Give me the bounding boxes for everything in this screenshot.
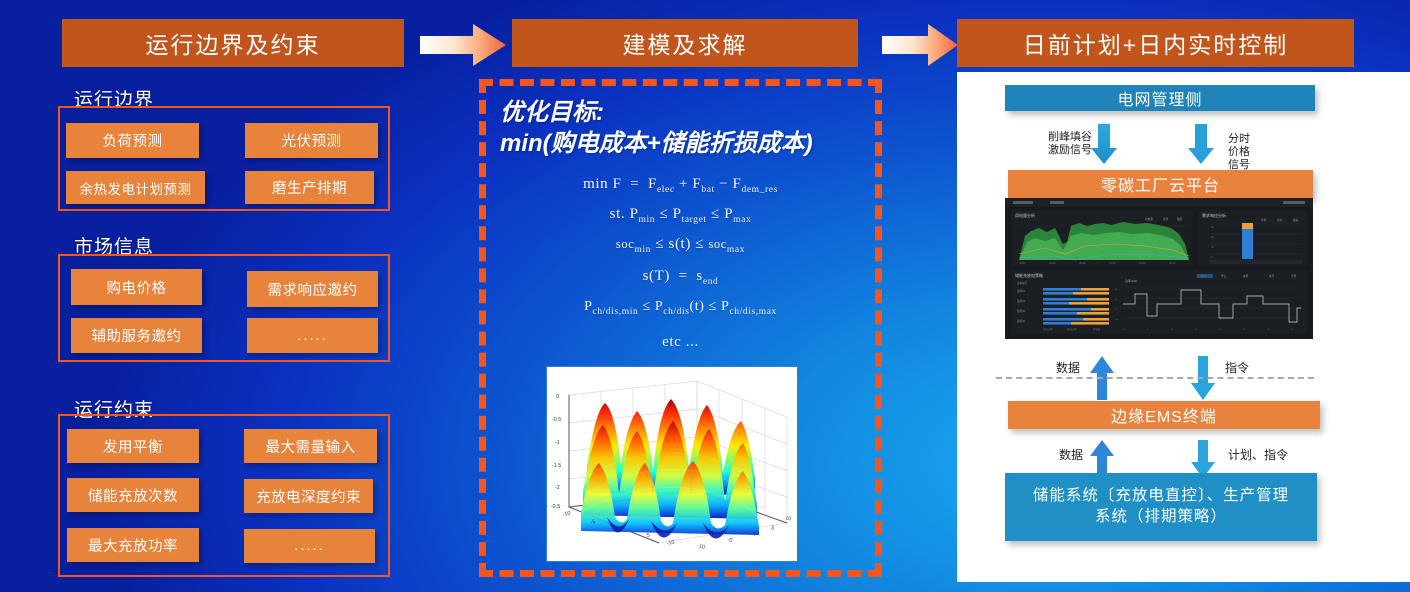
plan-command-label-lower: 计划、指令: [1228, 448, 1288, 462]
slide-canvas: 运行边界及约束 运行边界 负荷预测 光伏预测 余热发电计划预测 磨生产排期 市场…: [0, 0, 1410, 592]
svg-text:-2.5: -2.5: [551, 504, 560, 510]
svg-text:储能#3: 储能#3: [1017, 309, 1026, 313]
svg-text:设备编号: 设备编号: [1017, 281, 1028, 285]
svg-text:需求响应分析: 需求响应分析: [1202, 212, 1226, 218]
optimization-goal-text: 优化目标: min(购电成本+储能折损成本): [500, 98, 870, 159]
down-arrow-right: [1187, 122, 1215, 171]
down-arrow-left: [1090, 122, 1118, 171]
dashboard-screenshot[interactable]: 用电量分析 00:0004:0008:00 12:0016:0020:00 用电…: [1005, 198, 1313, 339]
chip-max-charge-discharge-power[interactable]: 最大充放功率: [67, 528, 199, 562]
svg-text:-0.5: -0.5: [552, 417, 561, 423]
chip-max-demand-input[interactable]: 最大需量输入: [244, 429, 377, 463]
svg-text:-2: -2: [555, 485, 560, 491]
left-header-label: 运行边界及约束: [146, 26, 321, 60]
surface-plot-card: 0 -0.5 -1 -1.5 -2 -2.5 -10 -5 0 5 -10 -1…: [546, 366, 798, 562]
equation-charge-discharge-bounds: Pch/dis,min ≤ Pch/dis(t) ≤ Pch/dis,max: [479, 299, 882, 317]
middle-panel-header: 建模及求解: [512, 19, 858, 67]
svg-text:-1.5: -1.5: [552, 463, 561, 469]
storage-production-system-bar[interactable]: 储能系统〔充放电直控〕、生产管理 系统（排期策略）: [1005, 473, 1317, 541]
equation-objective: min F = Felec + Fbat − Fdem_res: [479, 176, 882, 195]
svg-text:本周: 本周: [1243, 274, 1249, 278]
equation-soc-end: s(T) = send: [479, 268, 882, 287]
svg-text:储能充放电策略: 储能充放电策略: [1015, 272, 1043, 278]
flow-arrow-2: [880, 21, 960, 69]
chip-storage-cycle-count[interactable]: 储能充放次数: [67, 478, 199, 512]
chip-power-purchase-price[interactable]: 购电价格: [71, 269, 202, 305]
bottom-bar-line-2: 系统（排期策略）: [1095, 507, 1227, 528]
svg-text:全部: 全部: [1291, 274, 1297, 278]
tou-price-signal-label: 分时价格信号: [1228, 133, 1276, 172]
edge-ems-terminal-bar[interactable]: 边缘EMS终端: [1008, 401, 1320, 429]
bottom-bar-line-1: 储能系统〔充放电直控〕、生产管理: [1033, 486, 1289, 507]
equation-etc: etc ...: [479, 334, 882, 351]
svg-text:昨日: 昨日: [1221, 274, 1227, 278]
chip-constraints-more[interactable]: .....: [244, 529, 375, 563]
data-label-lower: 数据: [1059, 448, 1083, 462]
svg-text:储能#4: 储能#4: [1017, 319, 1026, 323]
svg-text:20:00: 20:00: [1169, 261, 1176, 265]
svg-text:储能#2: 储能#2: [1017, 299, 1026, 303]
flow-arrow-1: [418, 21, 508, 69]
svg-text:实际: 实际: [1277, 218, 1283, 222]
left-panel-header: 运行边界及约束: [62, 19, 404, 67]
svg-text:计划: 计划: [1261, 218, 1267, 222]
chip-mill-production-schedule[interactable]: 磨生产排期: [245, 171, 374, 204]
up-arrow-upper: [1089, 354, 1115, 407]
svg-text:12:00: 12:00: [1109, 261, 1116, 265]
svg-text:储能#1: 储能#1: [1017, 289, 1026, 293]
svg-text:-1: -1: [555, 440, 560, 446]
svg-text:08:00: 08:00: [1079, 261, 1086, 265]
equation-power-bounds: st. Pmin ≤ Ptarget ≤ Pmax: [479, 206, 882, 225]
down-arrow-command: [1190, 354, 1216, 407]
svg-text:0: 0: [556, 394, 559, 400]
command-label-upper: 指令: [1225, 361, 1249, 375]
svg-text:偏差: 偏差: [1293, 218, 1299, 222]
goal-line-2: min(购电成本+储能折损成本): [500, 129, 870, 160]
chip-generation-load-balance[interactable]: 发用平衡: [67, 429, 199, 463]
equation-soc-bounds: socmin ≤ s(t) ≤ socmax: [479, 236, 882, 255]
peak-shaving-signal-label: 削峰填谷激励信号: [1030, 131, 1092, 157]
chip-depth-of-discharge-constraint[interactable]: 充放电深度约束: [244, 479, 373, 513]
dashboard-graphic: 用电量分析 00:0004:0008:00 12:0016:0020:00 用电…: [1005, 198, 1313, 339]
grid-management-bar[interactable]: 电网管理侧: [1005, 85, 1315, 111]
zero-carbon-cloud-platform-bar[interactable]: 零碳工厂云平台: [1008, 170, 1313, 198]
chip-pv-forecast[interactable]: 光伏预测: [245, 123, 378, 158]
svg-text:00:00: 00:00: [1019, 261, 1026, 265]
chip-demand-response-invite[interactable]: 需求响应邀约: [247, 271, 378, 307]
svg-text:光伏: 光伏: [1163, 217, 1169, 221]
svg-text:04:00: 04:00: [1049, 261, 1056, 265]
chip-market-more[interactable]: .....: [247, 318, 378, 353]
right-panel-header: 日前计划+日内实时控制: [957, 19, 1354, 67]
boundary-dashed-line: [996, 377, 1314, 379]
svg-text:荷电态: 荷电态: [1093, 327, 1101, 331]
middle-header-label: 建模及求解: [623, 26, 748, 60]
svg-text:16:00: 16:00: [1139, 261, 1146, 265]
data-label-upper: 数据: [1056, 361, 1080, 375]
chip-ancillary-service-invite[interactable]: 辅助服务邀约: [71, 318, 202, 353]
svg-text:充电功率: 充电功率: [1043, 327, 1053, 331]
svg-text:用电量分析: 用电量分析: [1015, 212, 1035, 218]
svg-text:储能: 储能: [1177, 217, 1183, 221]
svg-text:功率(kW): 功率(kW): [1125, 278, 1137, 283]
svg-text:本月: 本月: [1269, 274, 1275, 278]
svg-text:放电功率: 放电功率: [1067, 327, 1077, 331]
svg-text:用电量: 用电量: [1145, 217, 1153, 221]
right-header-label: 日前计划+日内实时控制: [1023, 26, 1288, 60]
chip-load-forecast[interactable]: 负荷预测: [66, 123, 199, 158]
surface-plot-svg: 0 -0.5 -1 -1.5 -2 -2.5 -10 -5 0 5 -10 -1…: [547, 367, 798, 562]
chip-waste-heat-plan-forecast[interactable]: 余热发电计划预测: [66, 171, 205, 204]
goal-line-1: 优化目标:: [500, 98, 870, 129]
